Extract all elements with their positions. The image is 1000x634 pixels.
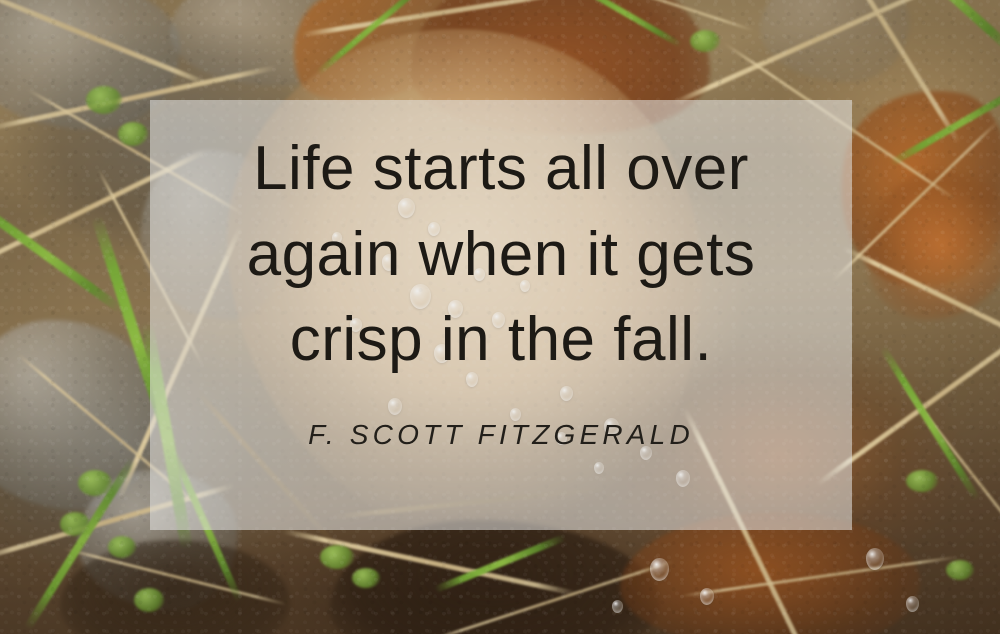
quote-overlay-panel: Life starts all over again when it gets … (150, 100, 852, 530)
quote-attribution: F. SCOTT FITZGERALD (308, 419, 694, 451)
leaflet-shape (906, 470, 938, 492)
leaflet-shape (60, 512, 90, 536)
rock-shape (760, 0, 910, 82)
leaflet-shape (320, 545, 354, 569)
leaflet-shape (78, 470, 112, 496)
leaflet-shape (108, 536, 136, 558)
water-droplet (906, 596, 919, 612)
leaflet-shape (118, 122, 148, 146)
leaflet-shape (352, 568, 380, 588)
quote-line-1: Life starts all over (150, 126, 852, 212)
leaflet-shape (86, 86, 122, 114)
quote-text: Life starts all over again when it gets … (150, 126, 852, 383)
quote-line-3: crisp in the fall. (150, 297, 852, 383)
leaflet-shape (134, 588, 164, 612)
leaflet-shape (690, 30, 720, 52)
quote-line-2: again when it gets (150, 212, 852, 298)
leaflet-shape (946, 560, 974, 580)
quote-card: Life starts all over again when it gets … (0, 0, 1000, 634)
